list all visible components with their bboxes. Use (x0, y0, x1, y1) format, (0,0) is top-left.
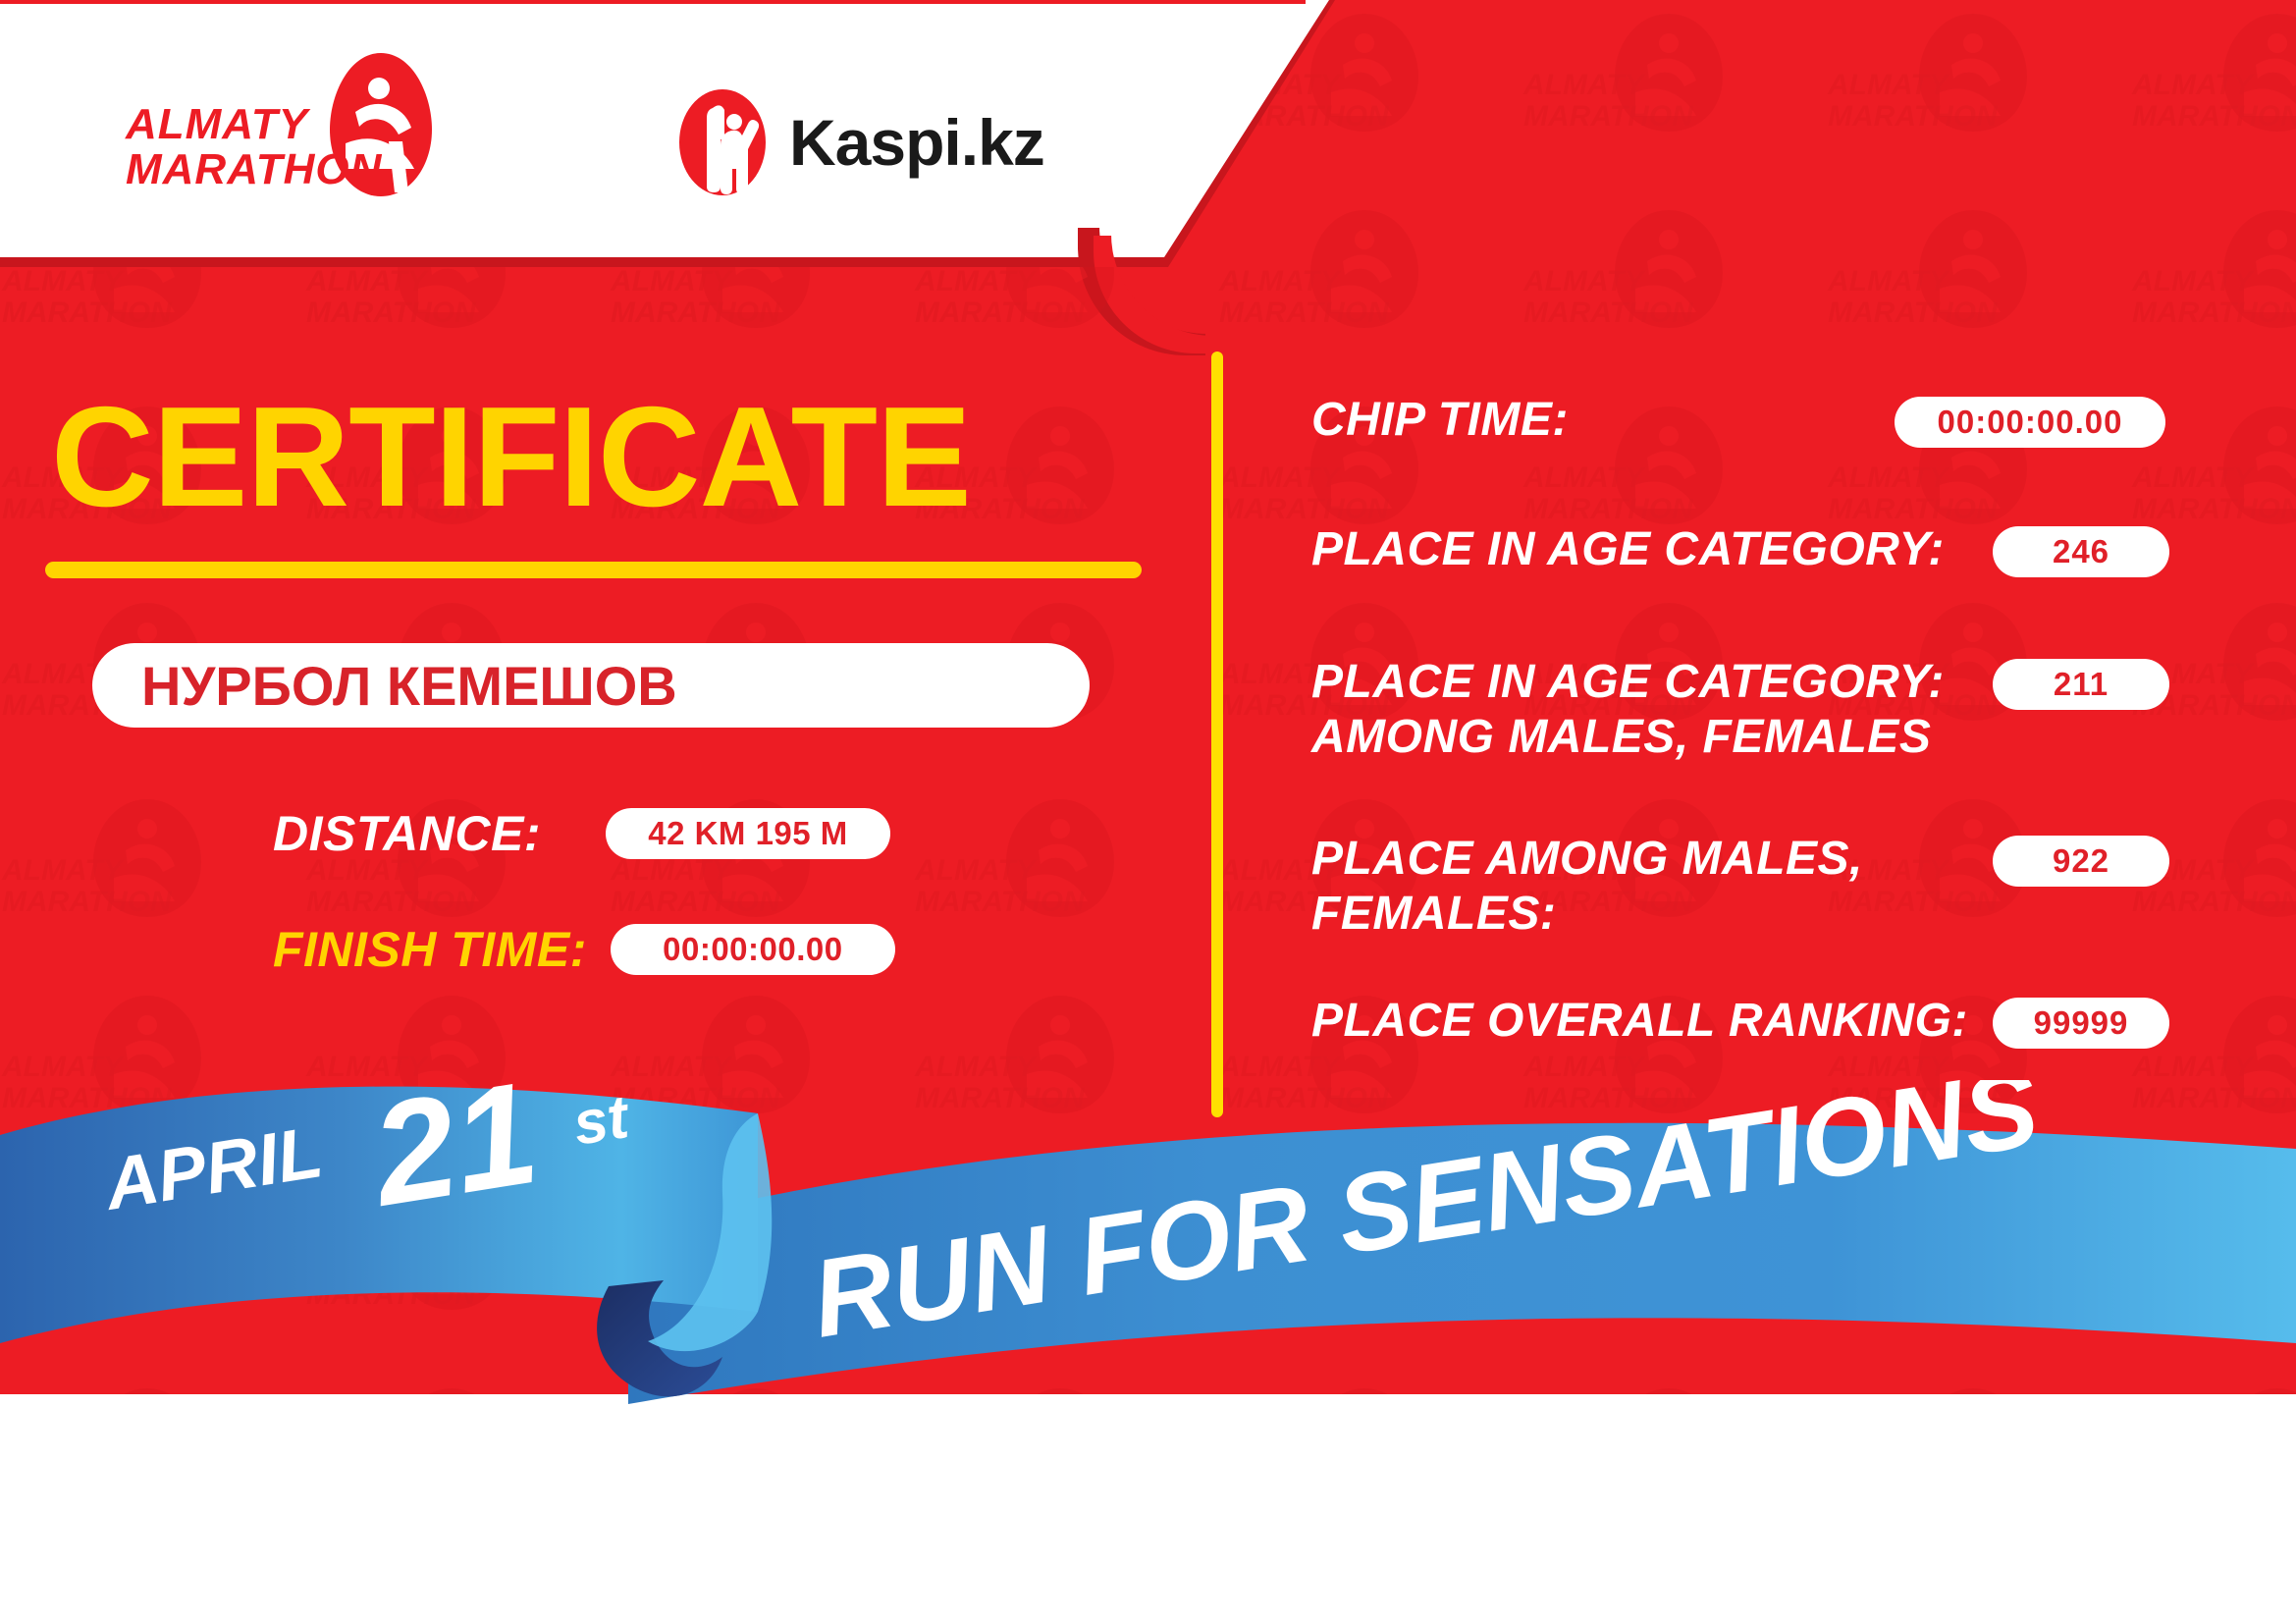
finish-time-label: FINISH TIME: (273, 921, 587, 978)
place-age-category-mf-label-line1: PLACE IN AGE CATEGORY: (1311, 655, 1945, 710)
place-age-category-mf-label: PLACE IN AGE CATEGORY: AMONG MALES, FEMA… (1311, 655, 1945, 765)
almaty-marathon-logo: ALMATY MARATHON (126, 51, 430, 208)
certificate-page: ALMATY MARATHON ALMATY MARATHON (0, 0, 2296, 1624)
finish-time-value: 00:00:00.00 (611, 924, 895, 975)
chip-time-value: 00:00:00.00 (1895, 397, 2165, 448)
header: ALMATY MARATHON Kaspi.kz (0, 0, 1306, 267)
place-age-category-mf-label-line2: AMONG MALES, FEMALES (1311, 710, 1945, 765)
place-age-category-mf-value: 211 (1993, 659, 2169, 710)
ribbon-date-day: 21 (359, 1080, 547, 1237)
place-overall-value: 99999 (1993, 998, 2169, 1049)
page-title: CERTIFICATE (51, 383, 971, 530)
athlete-name-field: НУРБОЛ КЕМЕШОВ (92, 643, 1090, 728)
place-overall-label: PLACE OVERALL RANKING: (1311, 994, 1968, 1049)
place-among-mf-value: 922 (1993, 836, 2169, 887)
place-age-category-label: PLACE IN AGE CATEGORY: (1311, 522, 1945, 577)
place-overall-row: PLACE OVERALL RANKING: 99999 (1276, 992, 2169, 1055)
logo-line-marathon: MARATHON (126, 147, 391, 192)
kaspi-figure-icon (677, 88, 768, 196)
athlete-name-value: НУРБОЛ КЕМЕШОВ (141, 654, 677, 718)
distance-row: DISTANCE: 42 KM 195 M (273, 805, 890, 862)
sponsor-strip: Sulpak SANOFI Empowering Life ORIFLAME S… (0, 1404, 2296, 1624)
place-among-mf-row: PLACE AMONG MALES, FEMALES: 922 (1276, 830, 2169, 957)
event-ribbon: APRIL 21 st RUN FOR SENSATIONS (0, 1080, 2296, 1434)
place-among-mf-label-line2: FEMALES: (1311, 887, 1863, 942)
logo-line-almaty: ALMATY (126, 102, 391, 147)
chip-time-label: CHIP TIME: (1311, 393, 1569, 448)
place-among-mf-label-line1: PLACE AMONG MALES, (1311, 832, 1863, 887)
vertical-divider (1211, 352, 1223, 1117)
distance-value: 42 KM 195 M (606, 808, 890, 859)
title-underline (45, 562, 1142, 578)
ribbon-date-suffix: st (568, 1083, 635, 1159)
finish-time-row: FINISH TIME: 00:00:00.00 (273, 921, 895, 978)
almaty-marathon-wordmark: ALMATY MARATHON (126, 102, 391, 192)
kaspi-wordmark: Kaspi.kz (789, 105, 1044, 180)
place-age-category-mf-row: PLACE IN AGE CATEGORY: AMONG MALES, FEMA… (1276, 653, 2169, 781)
place-among-mf-label: PLACE AMONG MALES, FEMALES: (1311, 832, 1863, 942)
place-age-category-value: 246 (1993, 526, 2169, 577)
kaspi-logo: Kaspi.kz (677, 88, 1044, 196)
place-age-category-row: PLACE IN AGE CATEGORY: 246 (1276, 520, 2169, 583)
chip-time-row: CHIP TIME: 00:00:00.00 (1276, 391, 2169, 454)
distance-label: DISTANCE: (273, 805, 541, 862)
